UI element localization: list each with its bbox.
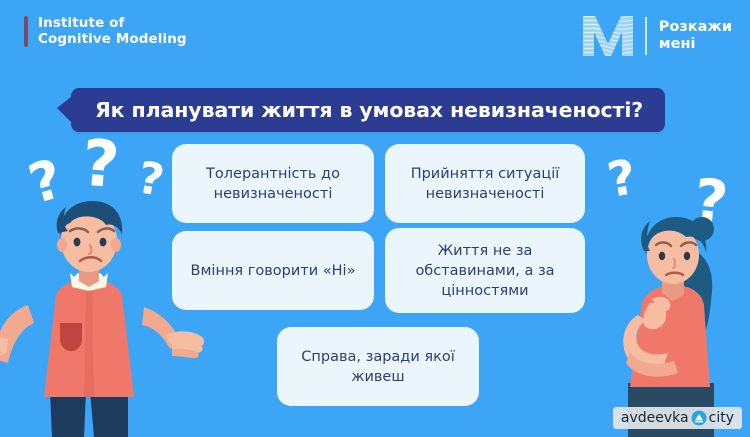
logo-divider bbox=[645, 17, 647, 55]
header: Institute of Cognitive Modeling bbox=[0, 0, 750, 72]
page-title-banner: Як планувати життя в умовах невизначенос… bbox=[71, 88, 665, 132]
watermark: avdeevka city bbox=[613, 407, 742, 429]
institute-logo-text: Institute of Cognitive Modeling bbox=[38, 16, 187, 47]
thinking-woman-illustration bbox=[586, 207, 750, 437]
info-card-text: Вміння говорити «Ні» bbox=[191, 261, 356, 281]
rozkazhy-meni-logo[interactable]: Розкажи мені bbox=[577, 10, 732, 62]
institute-logo[interactable]: Institute of Cognitive Modeling bbox=[24, 16, 187, 47]
institute-logo-line1: Institute of bbox=[38, 16, 187, 32]
avdeevka-circle-icon bbox=[691, 410, 707, 426]
info-card[interactable]: Вміння говорити «Ні» bbox=[172, 231, 374, 310]
logo-bar-icon bbox=[24, 16, 28, 47]
question-mark-icon: ? bbox=[604, 153, 640, 205]
watermark-text-right: city bbox=[709, 410, 734, 426]
rozkazhy-meni-text: Розкажи мені bbox=[659, 19, 732, 53]
open-hand bbox=[166, 331, 204, 358]
info-card-text: Справа, заради якої живеш bbox=[289, 347, 467, 387]
info-card-text: Толерантність до невизначеності bbox=[184, 164, 362, 204]
watermark-text-left: avdeevka bbox=[621, 410, 689, 426]
info-card[interactable]: Толерантність до невизначеності bbox=[172, 144, 374, 223]
rozkazhy-meni-line1: Розкажи bbox=[659, 19, 732, 36]
info-card-text: Життя не за обставинами, а за цінностями bbox=[397, 241, 573, 301]
poster-canvas: Institute of Cognitive Modeling bbox=[0, 0, 750, 437]
page-title: Як планувати життя в умовах невизначенос… bbox=[95, 98, 643, 122]
rozkazhy-meni-line2: мені bbox=[659, 36, 732, 53]
info-card-text: Прийняття ситуації невизначеності bbox=[397, 164, 573, 204]
confused-man-illustration bbox=[0, 187, 204, 437]
institute-logo-line2: Cognitive Modeling bbox=[38, 32, 187, 48]
info-card[interactable]: Справа, заради якої живеш bbox=[277, 327, 479, 406]
info-card[interactable]: Життя не за обставинами, а за цінностями bbox=[385, 228, 585, 313]
wave-m-mark-icon bbox=[577, 10, 639, 62]
info-card[interactable]: Прийняття ситуації невизначеності bbox=[385, 144, 585, 223]
